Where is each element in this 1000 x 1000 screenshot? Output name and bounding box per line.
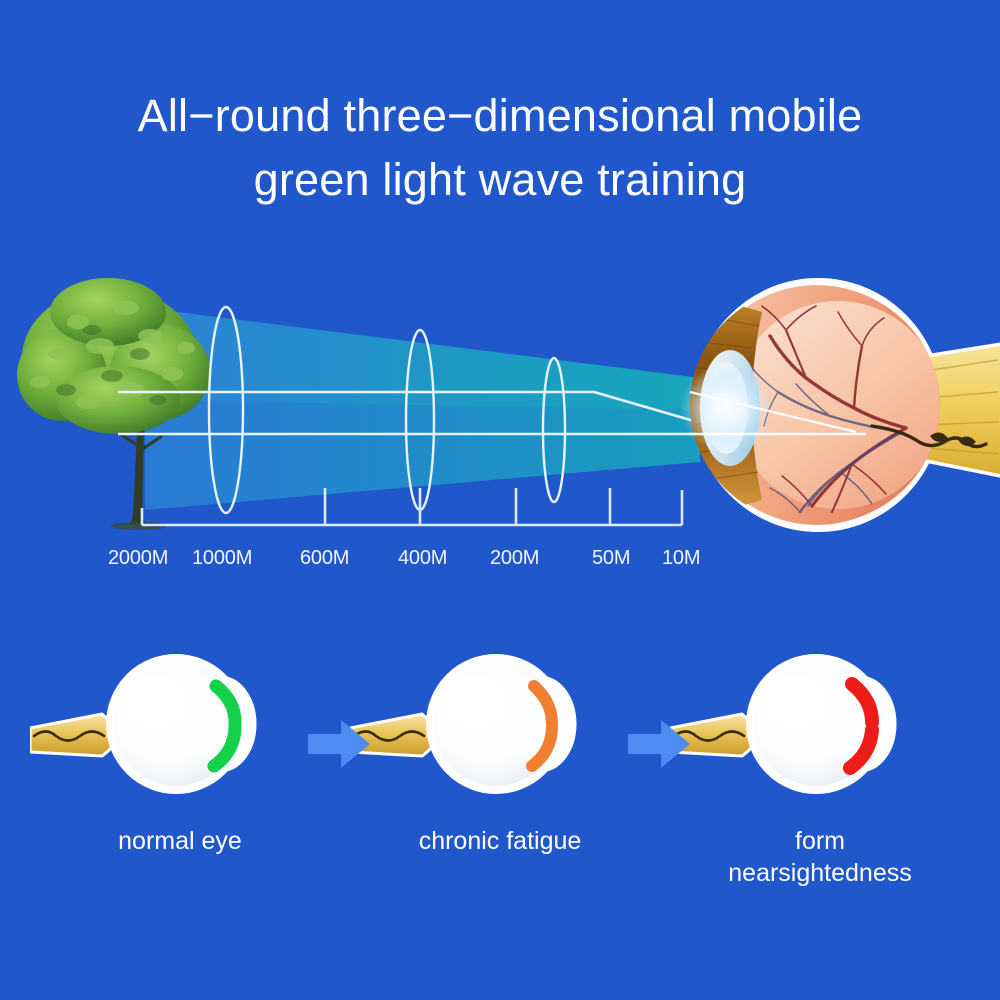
tick-label-200m: 200M bbox=[490, 548, 539, 568]
tick-label-2000m: 2000M bbox=[108, 548, 168, 568]
progression-row: normal eye bbox=[0, 630, 1000, 960]
tick-label-400m: 400M bbox=[398, 548, 447, 568]
stage-chronic-fatigue: chronic fatigue bbox=[350, 630, 650, 960]
nearsighted-eye-illustration bbox=[670, 640, 970, 810]
light-path-diagram: 2000M 1000M 600M 400M 200M 50M 10M bbox=[0, 250, 1000, 590]
caption-form-nearsightedness: form nearsightedness bbox=[670, 825, 970, 889]
stage-form-nearsightedness: form nearsightedness bbox=[670, 630, 970, 960]
eye-anatomy-cross-section bbox=[680, 283, 1000, 527]
caption-normal-eye: normal eye bbox=[30, 825, 330, 857]
light-path-svg bbox=[0, 250, 1000, 590]
caption-chronic-fatigue: chronic fatigue bbox=[350, 825, 650, 857]
chronic-fatigue-eye-illustration bbox=[350, 640, 650, 810]
progression-arrow-1 bbox=[308, 716, 370, 772]
tick-label-50m: 50M bbox=[592, 548, 630, 568]
tick-label-10m: 10M bbox=[662, 548, 700, 568]
stage-normal-eye: normal eye bbox=[30, 630, 330, 960]
infographic-root: All−round three−dimensional mobile green… bbox=[0, 0, 1000, 1000]
light-beam bbox=[145, 308, 700, 510]
tick-label-1000m: 1000M bbox=[192, 548, 252, 568]
tick-label-600m: 600M bbox=[300, 548, 349, 568]
progression-arrow-2 bbox=[628, 716, 690, 772]
normal-eye-illustration bbox=[30, 640, 330, 810]
page-title: All−round three−dimensional mobile green… bbox=[0, 84, 1000, 212]
